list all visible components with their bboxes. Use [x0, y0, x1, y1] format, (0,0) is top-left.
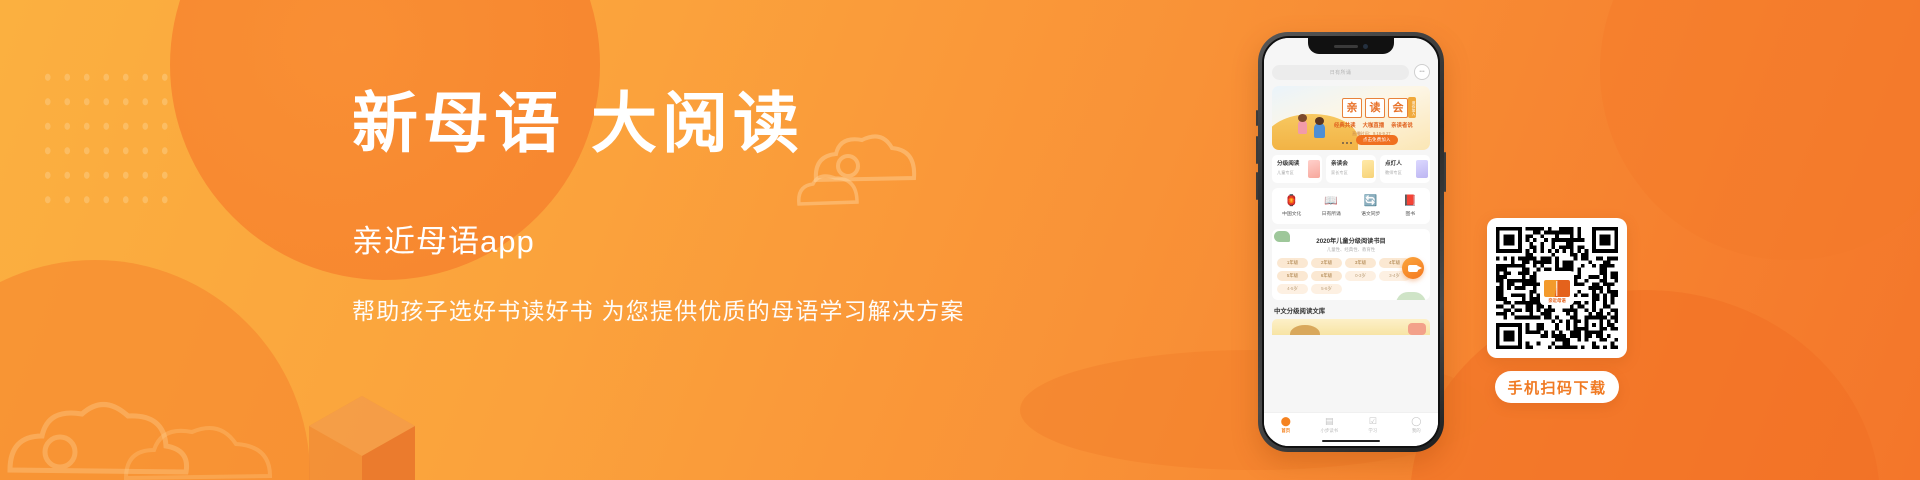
lantern-icon: 🏮 — [1285, 196, 1299, 207]
category-card-parent-club[interactable]: 亲读会 家长专区 — [1326, 155, 1376, 183]
grade-chip[interactable]: 2年级 — [1311, 258, 1342, 268]
phone-mockup: 日有所诵 ••• 亲 读 会 邀你加入 经典共读 — [1258, 32, 1444, 452]
phone-notch — [1308, 38, 1394, 54]
banner-carousel-dots[interactable] — [1342, 142, 1352, 144]
video-camera-icon — [1408, 265, 1418, 272]
qr-block: 亲近母语 手机扫码下载 — [1487, 218, 1627, 403]
grade-chip[interactable]: 6年级 — [1311, 271, 1342, 281]
library-title: 中文分级阅读文库 — [1274, 306, 1438, 315]
decorative-cloud-left — [0, 390, 200, 480]
quick-icon-label: 图书 — [1405, 210, 1415, 217]
grade-chip[interactable]: 3年级 — [1345, 258, 1376, 268]
headline-part-1: 新母语 — [352, 88, 565, 161]
banner-title-char-3: 会 — [1388, 98, 1408, 118]
clipboard-icon: ☑ — [1369, 417, 1377, 426]
phone-power-button — [1444, 152, 1446, 192]
banner-feature-2: 大咖直播 — [1363, 121, 1385, 129]
quick-icon-books[interactable]: 📕 图书 — [1392, 196, 1428, 217]
promo-banner: 新母语大阅读 亲近母语app 帮助孩子选好书读好书 为您提供优质的母语学习解决方… — [0, 0, 1920, 480]
page-title: 新母语大阅读 — [352, 86, 1052, 164]
booklist-subtitle: 儿童性、经典性、教育性 — [1277, 247, 1425, 253]
banner-feature-1: 经典共读 — [1334, 121, 1356, 129]
grade-chip[interactable]: 1年级 — [1277, 258, 1308, 268]
headline-part-2: 大阅读 — [591, 88, 804, 161]
library-thumbnail[interactable] — [1272, 319, 1430, 335]
banner-title: 亲 读 会 — [1342, 98, 1408, 118]
age-chip[interactable]: 0-3岁 — [1345, 271, 1376, 281]
phone-volume-up-button — [1256, 136, 1258, 164]
person-icon: ◯ — [1411, 417, 1421, 426]
message-icon[interactable]: ••• — [1414, 64, 1430, 80]
qr-card: 亲近母语 — [1487, 218, 1627, 358]
tab-reading[interactable]: ▤ 小步读书 — [1312, 417, 1346, 434]
phone-mute-button — [1256, 110, 1258, 126]
quick-icon-row: 🏮 中国文化 📖 日有所诵 🔄 语文同步 📕 图书 — [1272, 188, 1430, 224]
cloud-purple-icon — [1416, 160, 1428, 178]
search-input[interactable]: 日有所诵 — [1272, 65, 1409, 80]
app-name: 亲近母语app — [352, 216, 1052, 261]
category-cards: 分级阅读 儿童专区 亲读会 家长专区 点灯人 教师专区 — [1272, 155, 1430, 183]
tab-home[interactable]: ⬤ 首页 — [1269, 417, 1303, 434]
decorative-circle-bottom-right — [1410, 290, 1880, 480]
leaf-icon — [1274, 231, 1290, 242]
video-play-button[interactable] — [1402, 257, 1424, 279]
decorative-cube — [305, 390, 420, 480]
banner-features: 经典共读 大咖直播 亲读者说 — [1334, 121, 1413, 129]
home-icon: ⬤ — [1281, 417, 1291, 426]
age-chip[interactable]: 4-5岁 — [1277, 284, 1308, 294]
decorative-circle-bottom-left — [0, 260, 310, 480]
category-card-graded-reading[interactable]: 分级阅读 儿童专区 — [1272, 155, 1322, 183]
banner-vertical-tag: 邀你加入 — [1408, 97, 1416, 118]
app-promo-banner[interactable]: 亲 读 会 邀你加入 经典共读 大咖直播 亲读者说 直播时间：9.16-9.27… — [1272, 86, 1430, 150]
age-chip[interactable]: 5-6岁 — [1311, 284, 1342, 294]
quick-icon-sync-textbook[interactable]: 🔄 语文同步 — [1353, 196, 1389, 217]
booklist-section: 2020年儿童分级阅读书目 儿童性、经典性、教育性 1年级 2年级 3年级 4年… — [1272, 229, 1430, 300]
phone-volume-down-button — [1256, 172, 1258, 200]
category-card-teacher[interactable]: 点灯人 教师专区 — [1380, 155, 1430, 183]
banner-child-1 — [1298, 120, 1307, 134]
app-search-row: 日有所诵 ••• — [1272, 64, 1430, 80]
banner-title-char-2: 读 — [1365, 98, 1385, 118]
quick-icon-chinese-culture[interactable]: 🏮 中国文化 — [1274, 196, 1310, 217]
download-button[interactable]: 手机扫码下载 — [1495, 371, 1619, 403]
tab-label: 我的 — [1412, 428, 1421, 434]
tab-label: 学习 — [1368, 428, 1377, 434]
tab-label: 首页 — [1281, 428, 1290, 434]
quick-icon-label: 中国文化 — [1282, 210, 1301, 217]
book-red-icon — [1308, 160, 1320, 178]
tab-profile[interactable]: ◯ 我的 — [1399, 417, 1433, 434]
list-icon: ▤ — [1325, 417, 1334, 426]
decorative-circle-top-right — [1600, 0, 1920, 260]
books-icon: 📕 — [1403, 196, 1417, 207]
book-yellow-icon — [1362, 160, 1374, 178]
grade-chip[interactable]: 5年级 — [1277, 271, 1308, 281]
home-indicator — [1322, 440, 1380, 443]
headline-block: 新母语大阅读 亲近母语app 帮助孩子选好书读好书 为您提供优质的母语学习解决方… — [352, 86, 1052, 326]
tab-study[interactable]: ☑ 学习 — [1356, 417, 1390, 434]
phone-screen: 日有所诵 ••• 亲 读 会 邀你加入 经典共读 — [1264, 38, 1438, 446]
qr-logo: 亲近母语 — [1540, 271, 1574, 305]
banner-title-char-1: 亲 — [1342, 98, 1362, 118]
search-placeholder: 日有所诵 — [1330, 69, 1352, 76]
tagline: 帮助孩子选好书读好书 为您提供优质的母语学习解决方案 — [352, 292, 1052, 326]
quick-icon-label: 日有所诵 — [1322, 210, 1341, 217]
book-icon: 📖 — [1324, 196, 1338, 207]
sync-icon: 🔄 — [1364, 196, 1378, 207]
decorative-cloud-left-2 — [120, 414, 300, 480]
banner-child-2 — [1314, 123, 1325, 138]
banner-feature-3: 亲读者说 — [1391, 121, 1413, 129]
banner-cta-button[interactable]: 点击免费加入 — [1356, 135, 1398, 145]
qr-logo-text: 亲近母语 — [1540, 298, 1574, 304]
quick-icon-daily-recitation[interactable]: 📖 日有所诵 — [1313, 196, 1349, 217]
tab-label: 小步读书 — [1320, 428, 1338, 434]
booklist-title: 2020年儿童分级阅读书目 — [1277, 236, 1425, 245]
quick-icon-label: 语文同步 — [1361, 210, 1380, 217]
decorative-dot-grid — [35, 62, 175, 212]
